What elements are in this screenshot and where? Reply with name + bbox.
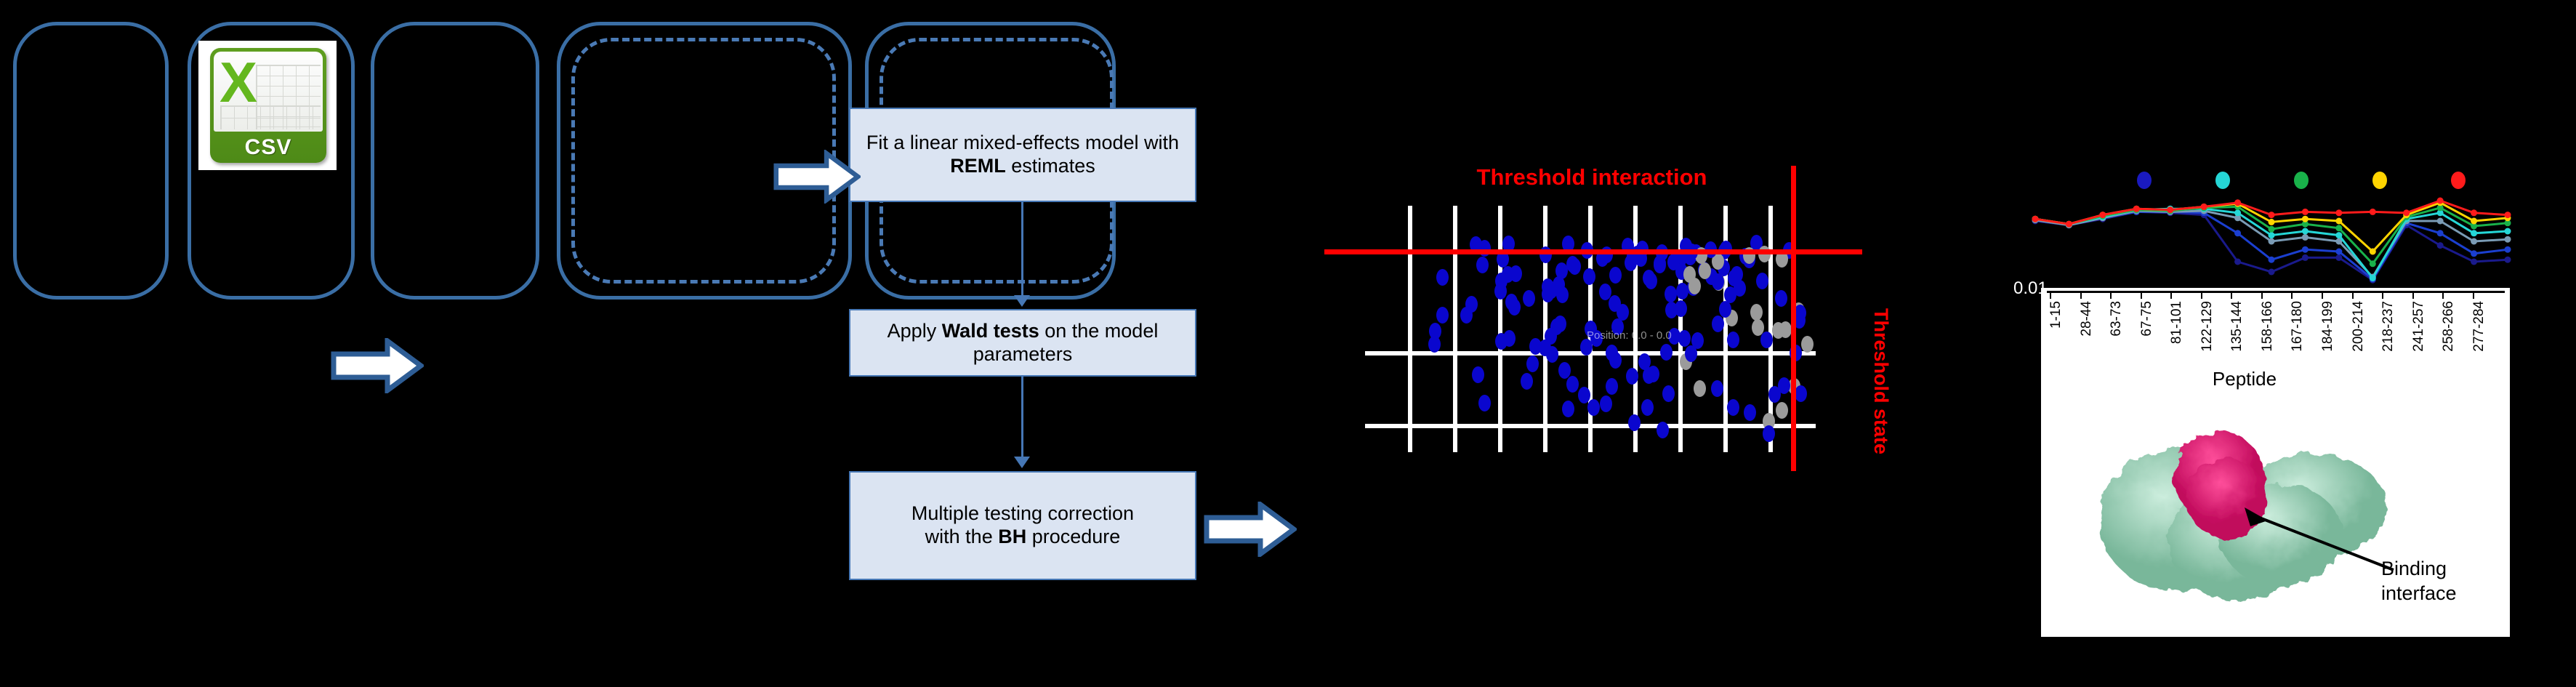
block-arrow-right-1-icon	[331, 338, 424, 393]
scatter-point	[1760, 332, 1773, 348]
scatter-point-outlier	[1683, 266, 1696, 283]
scatter-point	[1472, 366, 1484, 383]
peptide-tick-label: 258-266	[2441, 301, 2457, 352]
scatter-point	[1523, 290, 1535, 307]
peptide-tick	[2050, 291, 2051, 299]
peptide-tick	[2291, 291, 2293, 299]
scatter-point	[1436, 307, 1449, 324]
scatter-point	[1578, 387, 1590, 403]
scatter-point	[1566, 376, 1579, 393]
fit-model-box-text: Fit a linear mixed-effects model with RE…	[856, 132, 1189, 178]
scatter-point	[1510, 265, 1522, 282]
block-arrow-right-2-icon	[773, 150, 861, 204]
scatter-point	[1645, 273, 1657, 289]
scatter-point	[1675, 300, 1687, 317]
bh-correction-box[interactable]: Multiple testing correctionwith the BH p…	[849, 471, 1196, 580]
peptide-tick-label: 158-166	[2260, 301, 2276, 352]
scatter-point	[1600, 395, 1612, 412]
line-point	[2335, 249, 2342, 255]
line-point	[2302, 228, 2309, 235]
scatter-point-outlier	[1752, 319, 1764, 336]
scatter-point	[1569, 258, 1581, 275]
line-point	[2471, 259, 2477, 265]
line-point	[2403, 209, 2410, 216]
legend-marker-green	[2294, 172, 2309, 189]
scatter-point	[1562, 401, 1574, 417]
panel-input	[13, 22, 169, 300]
line-point	[2335, 232, 2342, 238]
scatter-point	[1727, 399, 1739, 416]
line-point	[2471, 238, 2477, 245]
line-point	[2269, 257, 2275, 263]
binding-interface-line2: interface	[2381, 582, 2457, 606]
scatter-point	[1676, 283, 1689, 300]
line-point	[2066, 221, 2072, 228]
scatter-point	[1609, 267, 1622, 284]
peptide-tick-label: 200-214	[2351, 301, 2367, 352]
binding-interface-label: Binding interface	[2381, 557, 2457, 606]
scatter-point	[1545, 282, 1558, 299]
scatter-point	[1768, 386, 1781, 403]
line-point	[2269, 269, 2275, 276]
line-point	[2269, 232, 2275, 238]
line-point	[2302, 216, 2309, 222]
excel-x-icon: X	[220, 56, 254, 108]
line-point	[2370, 209, 2376, 215]
peptide-tick-label: 67-75	[2139, 301, 2155, 337]
scatter-point	[1606, 378, 1618, 395]
peptide-tick	[2261, 291, 2263, 299]
line-point	[2505, 246, 2511, 253]
peptide-tick-label: 241-257	[2411, 301, 2427, 352]
peptide-line-chart	[2021, 167, 2522, 291]
scatter-axis-annotation: Position: 0.0 - 0.0	[1587, 329, 1672, 342]
line-point	[2370, 249, 2376, 255]
scatter-point	[1465, 296, 1478, 313]
scatter-point	[1556, 286, 1569, 303]
scatter-point	[1665, 286, 1677, 302]
scatter-point	[1599, 284, 1611, 300]
line-point	[2167, 206, 2173, 213]
scatter-point	[1554, 316, 1566, 332]
peptide-tick	[2442, 291, 2444, 299]
line-point	[2302, 254, 2309, 261]
scatter-point	[1727, 332, 1739, 348]
scatter-point	[1503, 330, 1516, 347]
line-point	[2505, 212, 2511, 218]
line-point	[2234, 199, 2241, 206]
scatter-point	[1521, 373, 1533, 390]
scatter-title: Threshold interaction	[1367, 164, 1817, 190]
peptide-axis-title: Peptide	[2041, 368, 2448, 390]
line-point	[2505, 257, 2511, 263]
scatter-point	[1476, 257, 1489, 273]
csv-icon-sheet: X	[214, 52, 323, 132]
peptide-tick-label: 1-15	[2048, 301, 2064, 329]
scatter-point	[1719, 301, 1731, 318]
csv-icon-card: X CSV	[210, 48, 326, 163]
peptide-tick	[2170, 291, 2172, 299]
line-point	[2471, 250, 2477, 257]
peptide-tick-label: 63-73	[2109, 301, 2125, 337]
line-point	[2335, 209, 2342, 216]
line-point	[2505, 236, 2511, 243]
line-point	[2099, 212, 2106, 218]
scatter-point-outlier	[1801, 336, 1814, 353]
peptide-tick-label: 184-199	[2320, 301, 2336, 352]
scatter-point	[1711, 380, 1723, 397]
line-point	[2201, 204, 2207, 210]
line-point	[2437, 242, 2444, 249]
csv-file-icon: X CSV	[198, 41, 337, 170]
peptide-tick-label: 167-180	[2290, 301, 2306, 352]
line-point	[2471, 209, 2477, 216]
line-point	[2437, 218, 2444, 225]
peptide-tick-label: 277-284	[2471, 301, 2487, 352]
legend-marker-yellow	[2372, 172, 2387, 189]
scatter-point	[1744, 404, 1756, 421]
scatter-point	[1795, 385, 1807, 402]
scatter-point	[1429, 323, 1441, 340]
peptide-tick-label: 122-129	[2199, 301, 2215, 352]
line-point	[2302, 209, 2309, 215]
scatter-gridline-v	[1453, 206, 1457, 452]
scatter-point	[1712, 316, 1724, 332]
scatter-point-outlier	[1750, 304, 1763, 321]
line-point	[2370, 275, 2376, 281]
line-point	[2234, 259, 2241, 265]
connector-wald-to-bh	[1021, 377, 1023, 458]
peptide-tick	[2141, 291, 2142, 299]
line-point	[2335, 254, 2342, 261]
csv-icon-label: CSV	[210, 132, 326, 163]
line-point	[2437, 230, 2444, 236]
threshold-state-line	[1791, 166, 1796, 471]
peptide-tick	[2352, 291, 2354, 299]
scatter-gridline-v	[1408, 206, 1412, 452]
scatter-point	[1555, 262, 1568, 279]
wald-test-box-text: Apply Wald tests on the model parameters	[856, 320, 1189, 366]
scatter-point-outlier	[1699, 262, 1711, 279]
line-point	[2505, 228, 2511, 235]
connector-fit-to-wald	[1021, 202, 1023, 297]
peptide-tick	[2110, 291, 2112, 299]
scatter-gridline-h	[1365, 424, 1816, 428]
scatter-point	[1685, 345, 1697, 362]
binding-interface-line1: Binding	[2381, 557, 2457, 582]
peptide-tick	[2322, 291, 2323, 299]
line-point	[2335, 218, 2342, 225]
scatter-point	[1495, 273, 1508, 289]
fit-model-box[interactable]: Fit a linear mixed-effects model with RE…	[849, 108, 1196, 202]
line-point	[2370, 260, 2376, 267]
line-point	[2269, 226, 2275, 233]
scatter-point	[1756, 273, 1768, 289]
line-point	[2269, 238, 2275, 245]
peptide-tick	[2201, 291, 2202, 299]
connector-arrowhead-down-icon	[1014, 295, 1030, 307]
line-point	[2133, 206, 2140, 212]
line-point	[2032, 216, 2039, 222]
flowchart-canvas: X CSV Fit a linear mixed-effects model w…	[0, 0, 2576, 687]
scatter-point	[1436, 269, 1449, 286]
scatter-point	[1606, 345, 1618, 361]
line-point	[2269, 212, 2275, 218]
line-point	[2234, 209, 2241, 216]
scatter-point	[1641, 399, 1654, 416]
line-point	[2471, 230, 2477, 236]
scatter-point-outlier	[1776, 402, 1788, 419]
scatter-point	[1478, 395, 1491, 411]
scatter-point	[1763, 425, 1775, 442]
line-point	[2437, 198, 2444, 204]
scatter-plot: Position: 0.0 - 0.0	[1365, 206, 1816, 452]
peptide-tick-label: 81-101	[2169, 301, 2185, 344]
panel-model-left	[371, 22, 539, 300]
peptide-tick-label: 28-44	[2079, 301, 2095, 337]
peptide-tick-labels: 1-1528-4463-7367-7581-101122-129135-1441…	[2047, 301, 2505, 365]
scatter-point	[1508, 299, 1521, 316]
wald-test-box[interactable]: Apply Wald tests on the model parameters	[849, 309, 1196, 377]
scatter-point	[1583, 268, 1595, 285]
scatter-point	[1546, 346, 1558, 363]
connector-arrowhead-down-2-icon	[1014, 457, 1030, 468]
line-point	[2234, 230, 2241, 236]
scatter-point	[1638, 353, 1651, 370]
scatter-point	[1775, 290, 1787, 307]
scatter-point	[1734, 280, 1746, 297]
legend-marker-red	[2451, 172, 2466, 189]
legend-marker-blue	[2137, 172, 2152, 189]
legend-marker-cyan	[2215, 172, 2230, 189]
scatter-point	[1660, 344, 1673, 361]
peptide-axis-card: 1-1528-4463-7367-7581-101122-129135-1441…	[2041, 288, 2510, 637]
peptide-tick	[2231, 291, 2232, 299]
peptide-tick	[2080, 291, 2082, 299]
peptide-axis-line	[2047, 291, 2505, 300]
line-point	[2335, 225, 2342, 231]
peptide-tick	[2473, 291, 2474, 299]
scatter-point	[1657, 422, 1669, 438]
scatter-point	[1587, 399, 1600, 416]
scatter-point	[1625, 254, 1637, 271]
threshold-state-label: Threshold state	[1869, 308, 1892, 454]
line-point	[2269, 219, 2275, 225]
peptide-tick	[2382, 291, 2383, 299]
scatter-point	[1654, 257, 1666, 273]
scatter-point	[1526, 355, 1539, 372]
bh-correction-box-text: Multiple testing correctionwith the BH p…	[911, 502, 1134, 549]
peptide-tick-label: 135-144	[2229, 301, 2245, 352]
peptide-tick	[2412, 291, 2414, 299]
line-point	[2302, 246, 2309, 253]
threshold-interaction-line	[1324, 249, 1862, 254]
peptide-tick-label: 218-237	[2380, 301, 2396, 352]
scatter-point-outlier	[1694, 380, 1706, 397]
scatter-point	[1662, 385, 1675, 402]
line-point	[2302, 234, 2309, 241]
scatter-point	[1628, 414, 1641, 431]
scatter-point-outlier	[1779, 321, 1792, 338]
block-arrow-right-3-icon	[1204, 502, 1297, 557]
line-point	[2471, 218, 2477, 225]
